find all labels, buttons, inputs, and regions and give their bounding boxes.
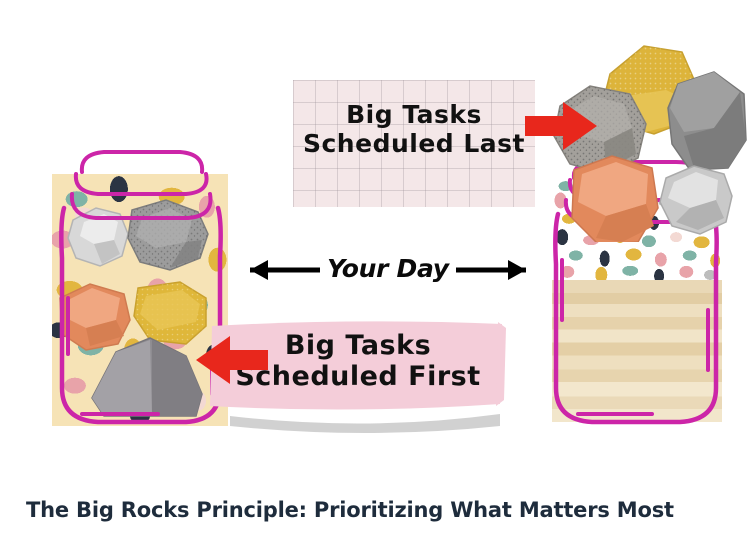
rock-yellow-mid-right [134,282,206,344]
arrow-to-bottom-rock [196,336,268,384]
page-caption: The Big Rocks Principle: Prioritizing Wh… [26,498,674,522]
label-scheduled-last-line1: Big Tasks [293,100,535,129]
infographic-canvas: Big Tasks Scheduled Last Your Day Big Ta… [0,0,754,545]
your-day-label: Your Day [228,254,548,283]
rock-speckled-gray-top-right [128,200,208,270]
arrow-to-overflow-rocks [525,102,597,150]
jar-right-sand-layer [552,280,722,422]
rock-light-gray-neck [660,166,732,234]
rock-light-gray-top-left [68,208,128,266]
rock-coral-mid-left [60,284,130,350]
rock-coral-neck [572,156,658,242]
label-scheduled-last-line2: Scheduled Last [293,129,535,158]
label-scheduled-last-text: Big Tasks Scheduled Last [293,100,535,158]
rock-gray-bottom-large [92,338,202,416]
rock-dark-gray-overflow [668,72,746,170]
